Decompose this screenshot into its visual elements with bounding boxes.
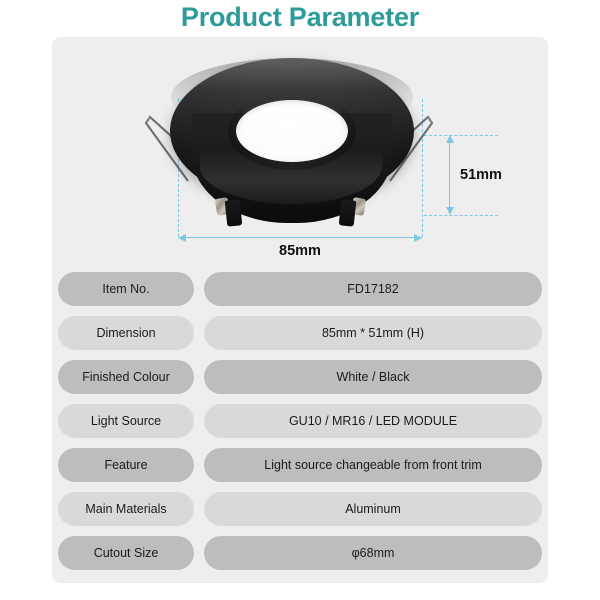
table-row: Item No. FD17182 — [52, 272, 548, 306]
spec-label: Cutout Size — [58, 536, 194, 570]
width-arrow-right — [414, 234, 422, 242]
table-row: Dimension 85mm * 51mm (H) — [52, 316, 548, 350]
dimension-extension-bottom — [424, 215, 498, 216]
spec-value: φ68mm — [204, 536, 542, 570]
spec-label: Main Materials — [58, 492, 194, 526]
spec-value: Aluminum — [204, 492, 542, 526]
spec-label: Item No. — [58, 272, 194, 306]
spec-table: Item No. FD17182 Dimension 85mm * 51mm (… — [52, 272, 548, 570]
table-row: Main Materials Aluminum — [52, 492, 548, 526]
table-row: Finished Colour White / Black — [52, 360, 548, 394]
spec-value: FD17182 — [204, 272, 542, 306]
spec-value: GU10 / MR16 / LED MODULE — [204, 404, 542, 438]
product-parameter-page: Product Parameter — [0, 0, 600, 600]
mounting-tab-right — [339, 199, 357, 226]
width-dimension-line — [180, 237, 422, 238]
spec-label: Feature — [58, 448, 194, 482]
table-row: Light Source GU10 / MR16 / LED MODULE — [52, 404, 548, 438]
table-row: Feature Light source changeable from fro… — [52, 448, 548, 482]
spec-value: 85mm * 51mm (H) — [204, 316, 542, 350]
light-aperture — [236, 100, 348, 162]
width-arrow-left — [178, 234, 186, 242]
page-title: Product Parameter — [0, 0, 600, 34]
mounting-tab-left — [225, 199, 243, 226]
spec-value: Light source changeable from front trim — [204, 448, 542, 482]
spec-label: Dimension — [58, 316, 194, 350]
spec-label: Light Source — [58, 404, 194, 438]
spec-value: White / Black — [204, 360, 542, 394]
trim-ring-body — [170, 58, 414, 230]
product-photo: 85mm 51mm — [52, 37, 548, 265]
table-row: Cutout Size φ68mm — [52, 536, 548, 570]
spec-label: Finished Colour — [58, 360, 194, 394]
width-dimension-label: 85mm — [52, 243, 548, 259]
height-dimension-line — [449, 137, 450, 213]
height-dimension-label: 51mm — [460, 167, 502, 183]
height-arrow-bottom — [446, 207, 454, 215]
height-arrow-top — [446, 135, 454, 143]
